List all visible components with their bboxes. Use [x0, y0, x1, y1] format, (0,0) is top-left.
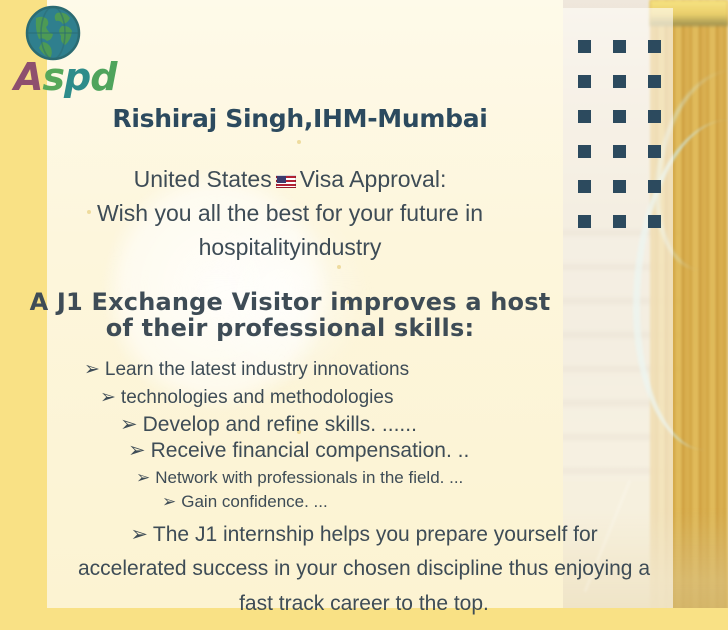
list-item: ➢Gain confidence. ...: [162, 492, 328, 512]
logo-letter-d: d: [90, 55, 116, 99]
list-item: ➢Network with professionals in the field…: [136, 468, 463, 488]
section-title-line-1: A J1 Exchange Visitor improves a host: [0, 288, 580, 317]
arrow-bullet-icon: ➢: [130, 522, 148, 546]
arrow-bullet-icon: ➢: [128, 438, 146, 462]
closing-line-1: ➢The J1 internship helps you prepare you…: [0, 522, 728, 547]
arrow-bullet-icon: ➢: [84, 358, 100, 380]
closing-line-2: accelerated success in your chosen disci…: [0, 557, 728, 581]
list-item-label: Network with professionals in the field.…: [155, 468, 463, 487]
industry-line: hospitalityindustry: [0, 234, 580, 261]
poster-canvas: Aspd Rishiraj Singh,IHM-Mumbai United St…: [0, 0, 728, 630]
section-title-line-2: of their professional skills:: [0, 314, 580, 343]
list-item-label: Receive financial compensation. ..: [151, 439, 470, 462]
visa-approval-line: United StatesVisa Approval:: [0, 166, 580, 193]
list-item: ➢Receive financial compensation. ..: [128, 438, 469, 463]
list-item: ➢Develop and refine skills. ......: [120, 412, 417, 437]
arrow-bullet-icon: ➢: [120, 412, 138, 436]
list-item: ➢technologies and methodologies: [100, 386, 393, 409]
page-title: Rishiraj Singh,IHM-Mumbai: [0, 104, 600, 133]
logo-letter-a: A: [14, 55, 42, 99]
us-flag-icon: [276, 175, 296, 188]
list-item-label: Learn the latest industry innovations: [105, 359, 409, 380]
visa-approval-text-after: Visa Approval:: [300, 166, 447, 192]
brand-logo: Aspd: [14, 4, 124, 96]
arrow-bullet-icon: ➢: [162, 492, 176, 512]
logo-letter-s: s: [42, 55, 64, 99]
list-item-label: Gain confidence. ...: [181, 492, 327, 511]
wish-line: Wish you all the best for your future in: [0, 200, 580, 227]
closing-line-3: fast track career to the top.: [0, 592, 728, 616]
logo-letter-p: p: [64, 55, 90, 99]
arrow-bullet-icon: ➢: [100, 386, 116, 408]
closing-text-1: The J1 internship helps you prepare your…: [153, 523, 598, 546]
list-item-label: Develop and refine skills. ......: [143, 413, 417, 436]
list-item: ➢Learn the latest industry innovations: [84, 358, 409, 381]
visa-approval-text-before: United States: [134, 166, 272, 192]
arrow-bullet-icon: ➢: [136, 468, 150, 488]
globe-icon: [24, 4, 82, 62]
list-item-label: technologies and methodologies: [121, 387, 394, 408]
brand-wordmark: Aspd: [14, 58, 124, 96]
